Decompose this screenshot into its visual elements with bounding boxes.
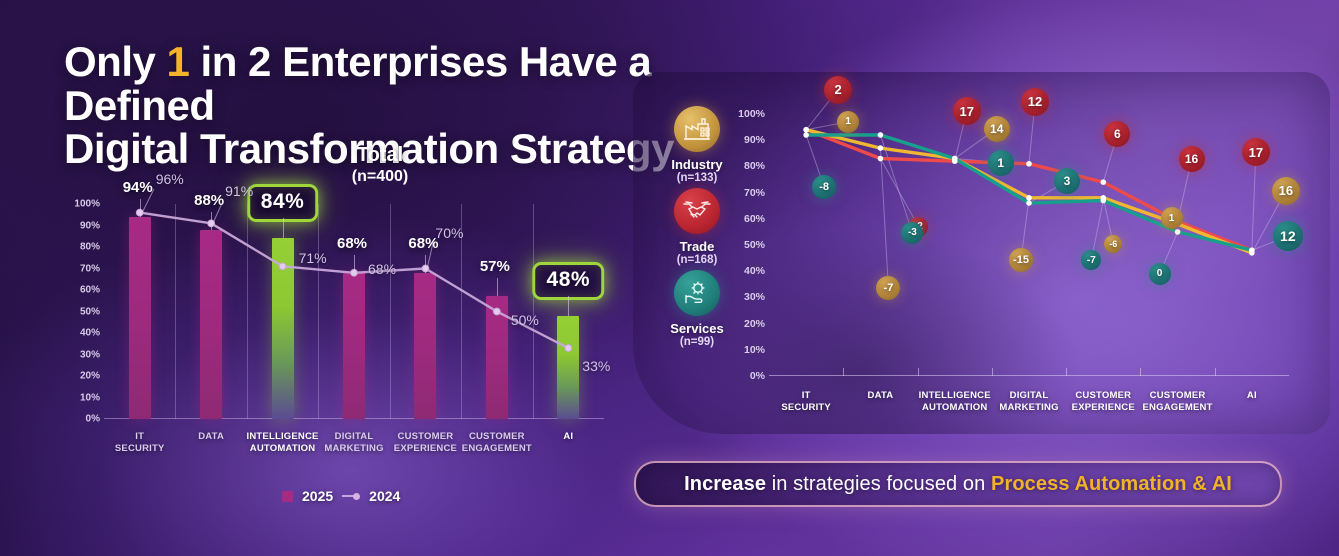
label-leader: [211, 195, 251, 235]
left-x-label: CUSTOMER EXPERIENCE: [394, 431, 457, 455]
right-x-label: CUSTOMER ENGAGEMENT: [1143, 390, 1213, 415]
right-y-tick: 20%: [744, 318, 765, 330]
segment-line-chart-panel: Industry (n=133) Trade (n=168): [633, 72, 1330, 434]
bar-value-label-2025: 68%: [337, 235, 367, 252]
headline-part1: Only: [64, 38, 167, 85]
badge-leader-line: [568, 296, 569, 316]
right-y-tick: 80%: [744, 160, 765, 172]
legend-swatch-2024: [342, 493, 360, 500]
delta-bubble: 1: [1161, 207, 1183, 229]
right-x-label: AI: [1247, 390, 1257, 402]
banner-text: Increase in strategies focused on Proces…: [684, 473, 1232, 496]
headline-accent: 1: [167, 38, 190, 85]
legend-swatch-2025: [282, 491, 293, 502]
left-y-tick: 10%: [80, 392, 100, 403]
delta-bubble: 12: [1021, 88, 1049, 116]
delta-bubble: 14: [984, 116, 1010, 142]
hand-gear-icon: [674, 270, 720, 316]
right-y-tick: 40%: [744, 265, 765, 277]
left-y-tick: 50%: [80, 306, 100, 317]
left-y-tick: 40%: [80, 328, 100, 339]
line-value-label-2024: 50%: [511, 312, 539, 328]
delta-bubble: 12: [1273, 221, 1303, 251]
left-y-tick: 80%: [80, 242, 100, 253]
left-y-tick: 60%: [80, 285, 100, 296]
left-x-label: DIGITAL MARKETING: [324, 431, 383, 455]
factory-icon: [674, 106, 720, 152]
left-x-label: INTELLIGENCE AUTOMATION: [247, 431, 319, 455]
banner-bold: Increase: [684, 473, 766, 495]
delta-bubble: 0: [1149, 263, 1171, 285]
left-x-label: IT SECURITY: [115, 431, 165, 455]
left-chart-legend: 2025 2024: [282, 488, 400, 504]
right-y-axis: 0%10%20%30%40%50%60%70%80%90%100%: [719, 114, 765, 376]
delta-bubble: -3: [901, 222, 923, 244]
delta-bubble: -7: [1081, 250, 1101, 270]
value-leader-line: [497, 278, 498, 296]
delta-bubble: 6: [1104, 121, 1130, 147]
bar-value-label-2025: 57%: [480, 258, 510, 275]
left-y-tick: 0%: [86, 414, 100, 425]
line-value-label-2024: 68%: [368, 261, 396, 277]
right-x-label: IT SECURITY: [781, 390, 831, 415]
right-y-tick: 100%: [738, 108, 765, 120]
bar-highlight-badge: 84%: [247, 184, 319, 222]
right-y-tick: 0%: [750, 370, 765, 382]
segment-lines: [769, 114, 1289, 376]
left-x-label: DATA: [198, 431, 224, 443]
infographic-canvas: Only 1 in 2 Enterprises Have a Defined D…: [0, 0, 1339, 556]
legend-label-2024: 2024: [369, 488, 400, 504]
right-x-label: INTELLIGENCE AUTOMATION: [919, 390, 991, 415]
right-x-label: CUSTOMER EXPERIENCE: [1072, 390, 1135, 415]
banner-mid: in strategies focused on: [766, 473, 991, 495]
right-plot-area: 21-8-2-3-717141123-156-6-71610171612: [769, 114, 1289, 376]
delta-bubble: 16: [1272, 177, 1300, 205]
right-y-tick: 30%: [744, 291, 765, 303]
delta-bubble: 1: [837, 111, 859, 133]
bar-highlight-badge: 48%: [533, 262, 605, 300]
right-y-tick: 60%: [744, 213, 765, 225]
left-x-label: AI: [563, 431, 573, 443]
total-bar-chart: Total (n=400) 0%10%20%30%40%50%60%70%80%…: [0, 140, 640, 520]
delta-bubble: 17: [953, 97, 981, 125]
delta-bubble: 3: [1054, 168, 1080, 194]
line-value-label-2024: 33%: [582, 358, 610, 374]
highlight-banner: Increase in strategies focused on Proces…: [634, 461, 1282, 507]
left-y-tick: 100%: [74, 199, 100, 210]
left-y-tick: 30%: [80, 349, 100, 360]
value-leader-line: [354, 255, 355, 273]
left-y-tick: 20%: [80, 371, 100, 382]
total-chart-title: Total: [300, 144, 460, 167]
left-y-tick: 90%: [80, 220, 100, 231]
delta-bubble: -6: [1104, 235, 1122, 253]
line-value-label-2024: 71%: [299, 250, 327, 266]
delta-bubble: -7: [876, 276, 900, 300]
badge-leader-line: [283, 218, 284, 238]
label-leader: [425, 237, 465, 277]
delta-bubble: -8: [812, 175, 836, 199]
right-y-tick: 90%: [744, 134, 765, 146]
left-y-tick: 70%: [80, 263, 100, 274]
delta-bubble: 17: [1242, 138, 1270, 166]
right-y-tick: 50%: [744, 239, 765, 251]
left-y-axis: 0%10%20%30%40%50%60%70%80%90%100%: [58, 204, 100, 419]
left-x-label: CUSTOMER ENGAGEMENT: [462, 431, 532, 455]
right-x-label: DATA: [868, 390, 894, 402]
legend-label-2025: 2025: [302, 488, 333, 504]
right-x-label: DIGITAL MARKETING: [999, 390, 1058, 415]
handshake-icon: [674, 188, 720, 234]
banner-gold: Process Automation & AI: [991, 473, 1232, 495]
total-chart-subtitle: (n=400): [300, 168, 460, 186]
right-y-tick: 10%: [744, 344, 765, 356]
delta-bubble: 1: [988, 150, 1014, 176]
delta-bubble: -15: [1009, 248, 1033, 272]
right-y-tick: 70%: [744, 187, 765, 199]
delta-bubble: 2: [824, 76, 852, 104]
label-leader: [140, 183, 180, 223]
delta-bubble: 16: [1179, 146, 1205, 172]
